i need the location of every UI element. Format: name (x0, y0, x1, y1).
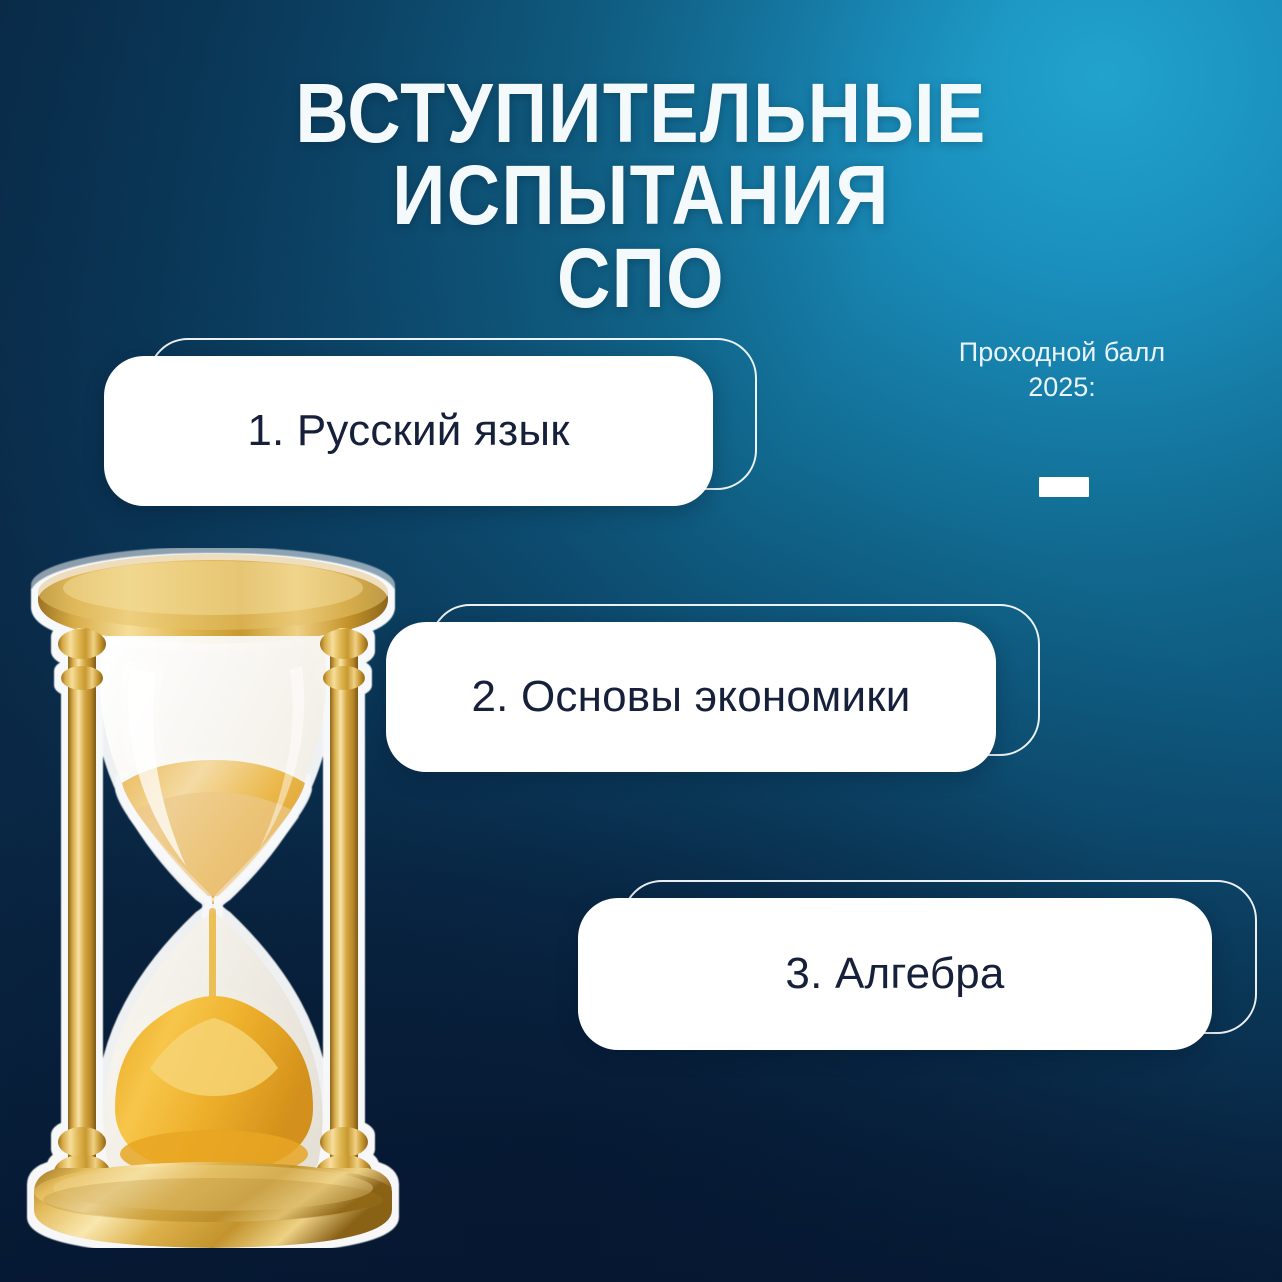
poster-canvas: ВСТУПИТЕЛЬНЫЕ ИСПЫТАНИЯ СПО Проходной ба… (0, 0, 1282, 1282)
hourglass-icon (18, 548, 408, 1248)
subject-card-3[interactable]: 3. Алгебра (578, 898, 1212, 1050)
subject-card-1[interactable]: 1. Русский язык (104, 356, 713, 506)
subject-card-label-1: 1. Русский язык (247, 406, 569, 456)
subject-card-2[interactable]: 2. Основы экономики (386, 622, 996, 772)
subject-card-label-2: 2. Основы экономики (471, 672, 910, 722)
hourglass-artwork (34, 554, 392, 1248)
subject-card-label-3: 3. Алгебра (785, 949, 1004, 999)
